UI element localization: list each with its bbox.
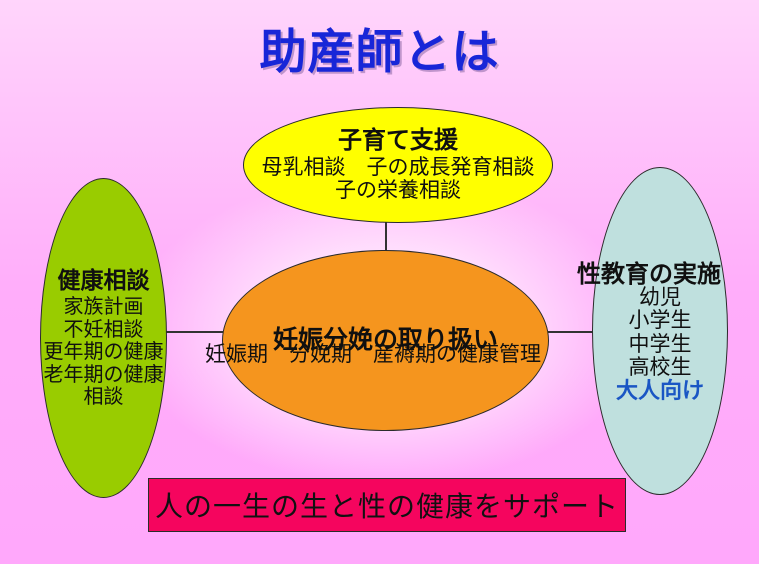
node-sex-education-accent-line: 大人向け (616, 380, 704, 405)
node-health-consultation-line-2: 不妊相談 (64, 318, 144, 340)
node-pregnancy-delivery-line-1: 妊娠期 分娩期 産褥期の健康管理 (205, 338, 541, 368)
node-sex-education-title: 性教育の実施 (577, 254, 721, 289)
node-health-consultation-line-5: 相談 (84, 385, 124, 407)
node-sex-education[interactable]: 性教育の実施 幼児 小学生 中学生 高校生 大人向け (592, 167, 728, 495)
summary-banner-text: 人の一生の生と性の健康をサポート (155, 485, 619, 525)
connector-yellow-orange (385, 222, 387, 251)
slide-canvas: 助産師とは 健康相談 家族計画 不妊相談 更年期の健康 老年期の健康 相談 子育… (0, 0, 759, 564)
node-sex-education-line-1: 幼児 (639, 286, 681, 310)
node-health-consultation-title: 健康相談 (58, 269, 150, 295)
node-childcare-support-title: 子育て支援 (338, 127, 458, 154)
node-childcare-support[interactable]: 子育て支援 母乳相談 子の成長発育相談 子の栄養相談 (243, 107, 553, 223)
node-health-consultation[interactable]: 健康相談 家族計画 不妊相談 更年期の健康 老年期の健康 相談 (40, 178, 167, 498)
summary-banner[interactable]: 人の一生の生と性の健康をサポート (148, 478, 626, 532)
node-health-consultation-line-1: 家族計画 (64, 295, 144, 317)
node-sex-education-line-4: 高校生 (629, 356, 692, 380)
node-childcare-support-line-1: 母乳相談 子の成長発育相談 (262, 156, 535, 180)
node-health-consultation-line-4: 老年期の健康 (44, 363, 164, 385)
page-title: 助産師とは (0, 13, 759, 82)
node-sex-education-line-2: 小学生 (629, 309, 692, 333)
node-sex-education-line-3: 中学生 (629, 333, 692, 357)
node-health-consultation-line-3: 更年期の健康 (44, 340, 164, 362)
node-childcare-support-line-2: 子の栄養相談 (335, 179, 461, 203)
